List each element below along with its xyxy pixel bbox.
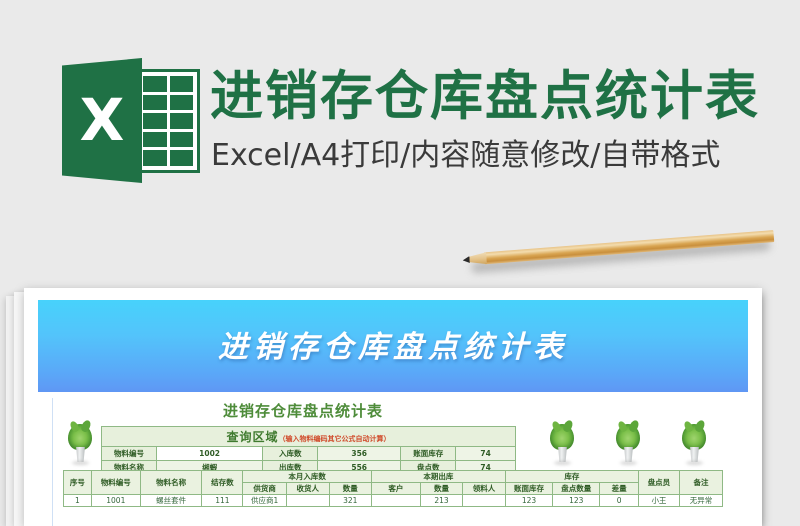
potted-plant-icon bbox=[615, 424, 641, 464]
cell-diff: 0 bbox=[600, 495, 639, 507]
col-header-checker: 盘点员 bbox=[638, 471, 679, 495]
query-header-row: 查询区域（输入物料编码其它公式自动计算） bbox=[102, 427, 516, 447]
query-label-in-qty: 入库数 bbox=[263, 447, 318, 461]
col-header-picker: 领料人 bbox=[463, 483, 506, 495]
col-header-customer: 客户 bbox=[371, 483, 420, 495]
hero-band: X 进销存仓库盘点统计表 Excel/A4打印/内容随意修改/自带格式 bbox=[0, 0, 800, 232]
table-group-header-row: 序号 物料编号 物料名称 结存数 本月入库数 本期出库 库存 盘点员 备注 bbox=[64, 471, 723, 483]
query-region-table[interactable]: 查询区域（输入物料编码其它公式自动计算） 物料编号 1002 入库数 356 账… bbox=[101, 426, 516, 475]
col-group-outbound: 本期出库 bbox=[371, 471, 505, 483]
excel-logo-icon: X bbox=[62, 58, 212, 183]
preview-card: 进销存仓库盘点统计表 进销存仓库盘点统计表 查询区域（输入物料编码其它公式自动计… bbox=[24, 288, 762, 526]
worksheet-preview[interactable]: 进销存仓库盘点统计表 查询区域（输入物料编码其它公式自动计算） 物料编号 100… bbox=[52, 398, 735, 526]
col-header-seq: 序号 bbox=[64, 471, 92, 495]
cell-book-stock: 123 bbox=[505, 495, 552, 507]
cell-name: 螺丝套件 bbox=[140, 495, 202, 507]
col-header-name: 物料名称 bbox=[140, 471, 202, 495]
potted-plant-icon bbox=[549, 424, 575, 464]
cell-seq: 1 bbox=[64, 495, 92, 507]
col-group-inbound: 本月入库数 bbox=[243, 471, 371, 483]
cell-customer bbox=[371, 495, 420, 507]
table-row[interactable]: 1 1001 螺丝套件 111 供应商1 321 213 123 123 0 小… bbox=[64, 495, 723, 507]
inventory-table[interactable]: 序号 物料编号 物料名称 结存数 本月入库数 本期出库 库存 盘点员 备注 供货… bbox=[63, 470, 723, 507]
col-header-in-qty: 数量 bbox=[329, 483, 371, 495]
page-subtitle: Excel/A4打印/内容随意修改/自带格式 bbox=[211, 133, 771, 179]
cell-counted: 123 bbox=[553, 495, 600, 507]
page-title: 进销存仓库盘点统计表 bbox=[210, 62, 770, 132]
potted-plant-icon bbox=[681, 424, 707, 464]
col-header-remark: 备注 bbox=[679, 471, 722, 495]
cell-picker bbox=[463, 495, 506, 507]
query-label-material-code: 物料编号 bbox=[102, 447, 157, 461]
query-label-book-stock: 账面库存 bbox=[401, 447, 456, 461]
query-header-main: 查询区域 bbox=[226, 430, 278, 444]
potted-plant-icon bbox=[67, 424, 93, 464]
cell-remark: 无异常 bbox=[679, 495, 722, 507]
col-header-receiver: 收货人 bbox=[286, 483, 329, 495]
query-value-in-qty: 356 bbox=[318, 447, 401, 461]
col-header-supplier: 供货商 bbox=[243, 483, 286, 495]
col-header-diff: 差量 bbox=[600, 483, 639, 495]
cell-balance: 111 bbox=[202, 495, 243, 507]
col-header-out-qty: 数量 bbox=[420, 483, 462, 495]
col-header-counted: 盘点数量 bbox=[553, 483, 600, 495]
query-row: 物料编号 1002 入库数 356 账面库存 74 bbox=[102, 447, 516, 461]
col-header-balance: 结存数 bbox=[202, 471, 243, 495]
cell-checker: 小王 bbox=[638, 495, 679, 507]
cell-receiver bbox=[286, 495, 329, 507]
query-value-book-stock: 74 bbox=[456, 447, 516, 461]
query-header-note: （输入物料编码其它公式自动计算） bbox=[279, 435, 391, 443]
cell-in-qty: 321 bbox=[329, 495, 371, 507]
worksheet-title: 进销存仓库盘点统计表 bbox=[53, 400, 553, 422]
cell-out-qty: 213 bbox=[420, 495, 462, 507]
cell-supplier: 供应商1 bbox=[243, 495, 286, 507]
cell-code: 1001 bbox=[91, 495, 140, 507]
col-header-book-stock: 账面库存 bbox=[505, 483, 552, 495]
banner-title: 进销存仓库盘点统计表 bbox=[38, 300, 748, 392]
query-header-cell: 查询区域（输入物料编码其它公式自动计算） bbox=[102, 427, 516, 447]
query-value-material-code[interactable]: 1002 bbox=[157, 447, 263, 461]
preview-banner: 进销存仓库盘点统计表 bbox=[38, 300, 748, 392]
logo-spreadsheet-grid bbox=[136, 69, 200, 173]
logo-letter-x: X bbox=[62, 58, 142, 183]
col-header-code: 物料编号 bbox=[91, 471, 140, 495]
col-group-stock: 库存 bbox=[505, 471, 638, 483]
pencil-icon bbox=[462, 226, 775, 278]
